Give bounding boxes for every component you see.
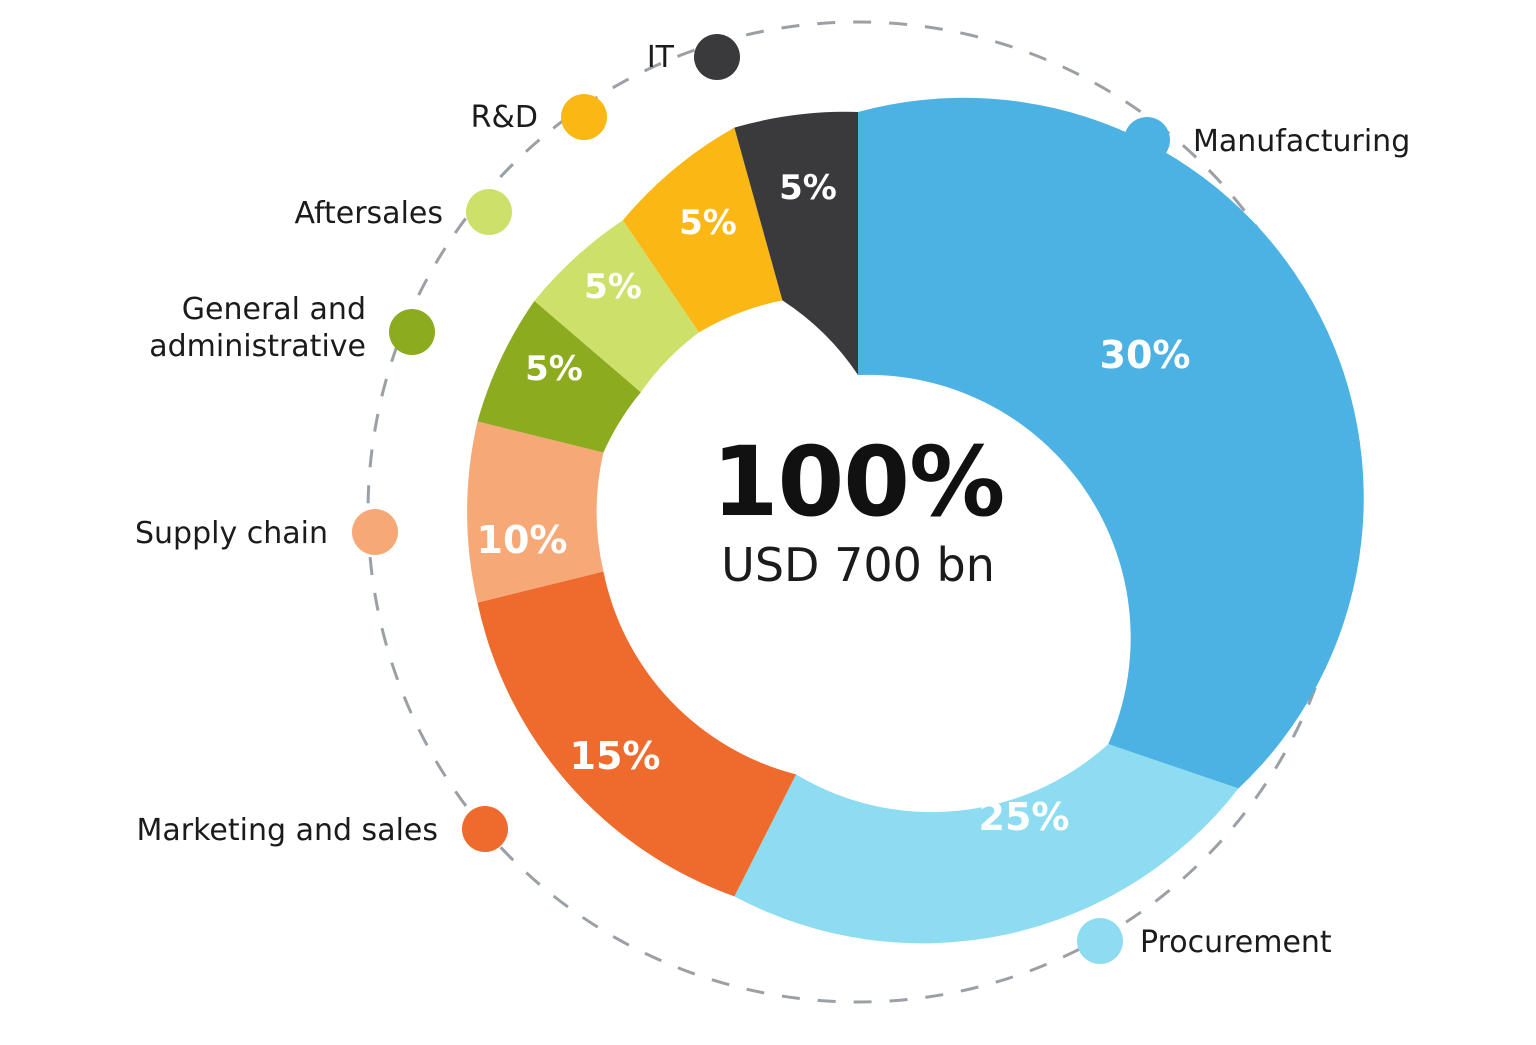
legend-label-it[interactable]: IT (0, 40, 674, 77)
legend-dot-general-and-administrative[interactable] (389, 309, 435, 355)
slice-procurement[interactable] (734, 744, 1238, 943)
legend-dot-it[interactable] (694, 34, 740, 80)
legend-dot-marketing-and-sales[interactable] (462, 806, 508, 852)
slice-value-marketing-and-sales: 15% (570, 734, 661, 778)
legend-dot-supply-chain[interactable] (352, 509, 398, 555)
legend-dot-procurement[interactable] (1077, 918, 1123, 964)
legend-dot-manufacturing[interactable] (1124, 117, 1170, 163)
slice-value-supply-chain: 10% (477, 518, 568, 562)
legend-dot-rd[interactable] (561, 94, 607, 140)
slice-value-manufacturing: 30% (1100, 333, 1191, 377)
legend-label-procurement[interactable]: Procurement (1140, 925, 1332, 962)
slice-manufacturing[interactable] (858, 98, 1364, 789)
slice-value-aftersales: 5% (584, 267, 642, 307)
legend-label-manufacturing[interactable]: Manufacturing (1193, 124, 1410, 161)
slice-value-it: 5% (779, 168, 837, 208)
slice-value-general-and-administrative: 5% (525, 349, 583, 389)
donut-slices (467, 98, 1364, 944)
slice-value-procurement: 25% (979, 795, 1070, 839)
legend-label-rd[interactable]: R&D (0, 100, 538, 137)
legend-dot-aftersales[interactable] (466, 189, 512, 235)
slice-value-rd: 5% (679, 203, 737, 243)
slice-supply-chain[interactable] (467, 421, 603, 602)
donut-chart: 30% 25% 15% 10% 5% 5% 5% 5% Manufacturin… (0, 0, 1536, 1045)
legend-label-supply-chain[interactable]: Supply chain (0, 516, 328, 553)
legend-label-marketing-and-sales[interactable]: Marketing and sales (0, 813, 438, 850)
legend-label-aftersales[interactable]: Aftersales (0, 196, 443, 233)
legend-label-general-and-administrative[interactable]: General and administrative (0, 292, 366, 365)
